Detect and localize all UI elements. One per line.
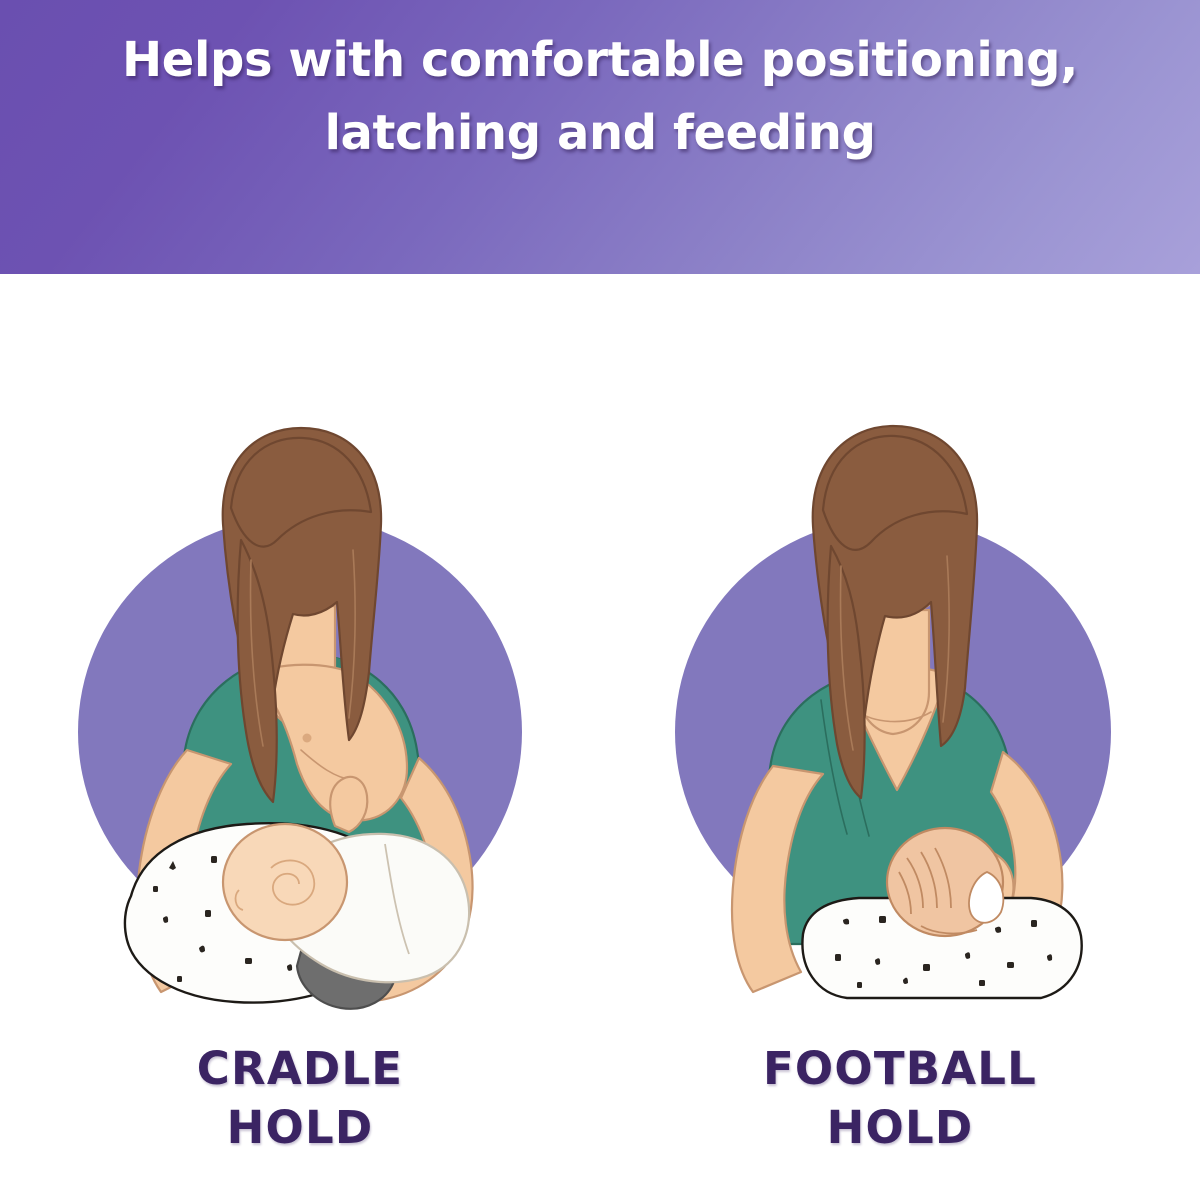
caption-cradle-hold: CRADLE HOLD bbox=[35, 1040, 565, 1157]
baby-head bbox=[223, 824, 347, 940]
caption-line-2: HOLD bbox=[35, 1099, 565, 1158]
caption-football-hold: FOOTBALL HOLD bbox=[635, 1040, 1165, 1157]
caption-line-1: CRADLE bbox=[35, 1040, 565, 1099]
baby bbox=[887, 828, 1003, 936]
panel-cradle-hold: CRADLE HOLD bbox=[35, 420, 565, 1180]
infographic-page: Helps with comfortable positioning, latc… bbox=[0, 0, 1200, 1200]
nipple bbox=[303, 734, 312, 743]
header-banner: Helps with comfortable positioning, latc… bbox=[0, 0, 1200, 274]
illustration-cradle-hold bbox=[35, 420, 565, 1040]
banner-title-line-1: Helps with comfortable positioning, bbox=[52, 24, 1148, 97]
caption-line-2: HOLD bbox=[635, 1099, 1165, 1158]
caption-line-1: FOOTBALL bbox=[635, 1040, 1165, 1099]
illustration-football-hold bbox=[635, 420, 1165, 1040]
banner-title: Helps with comfortable positioning, latc… bbox=[0, 24, 1200, 170]
banner-title-line-2: latching and feeding bbox=[52, 97, 1148, 170]
panel-football-hold: FOOTBALL HOLD bbox=[635, 420, 1165, 1180]
